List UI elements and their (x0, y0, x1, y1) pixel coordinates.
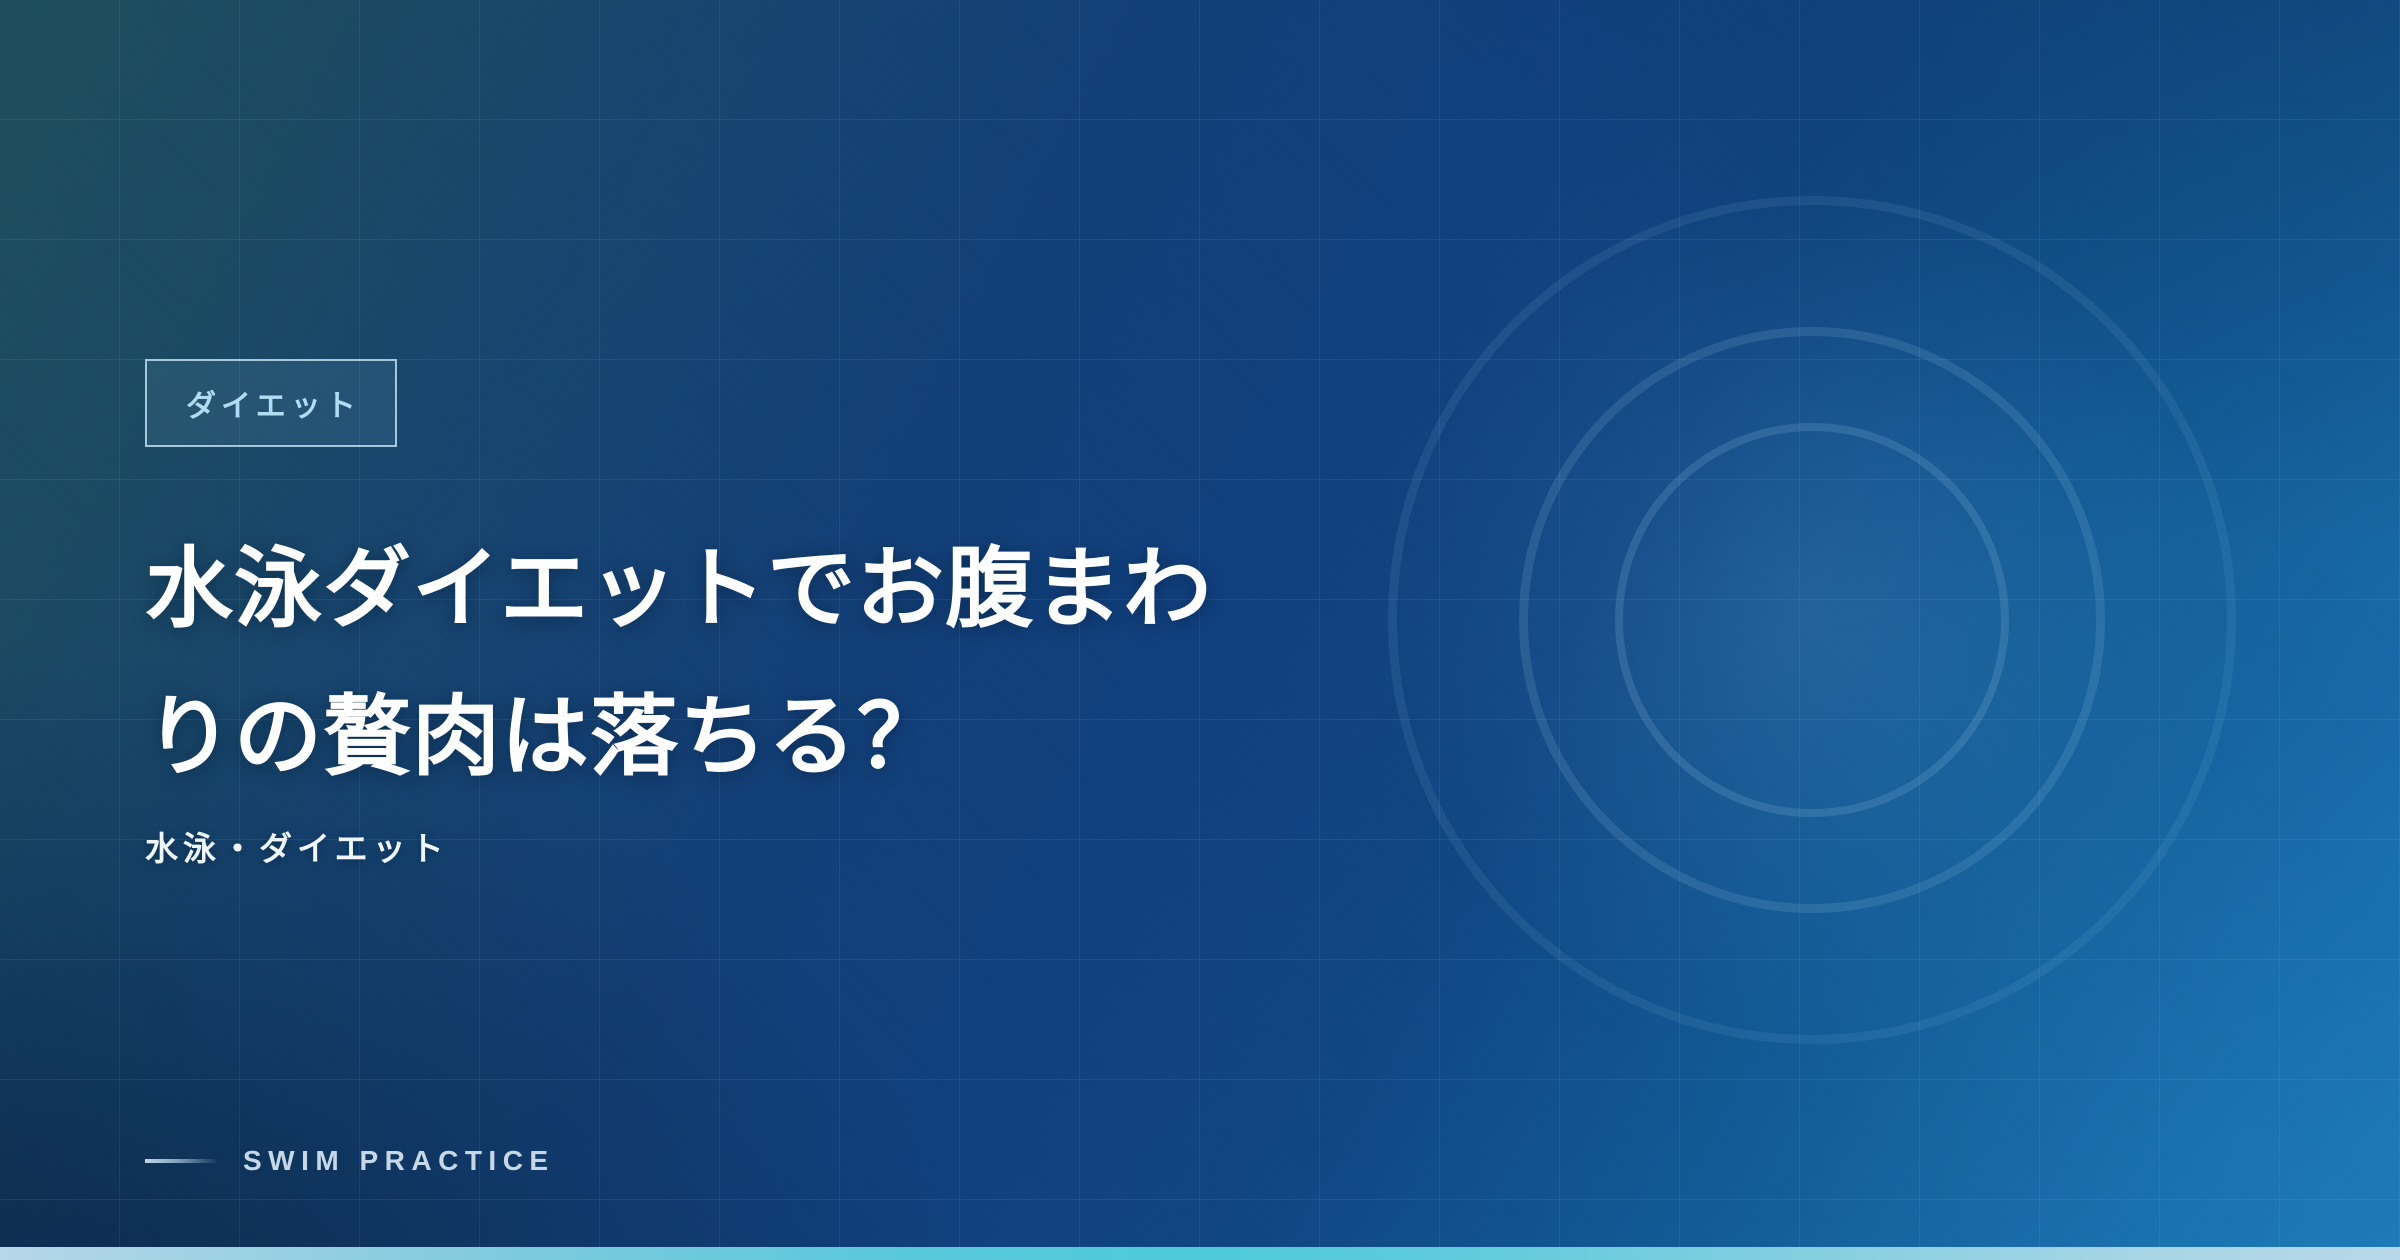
inner-ring-icon (1615, 423, 2009, 817)
bottom-accent-bar (0, 1247, 2400, 1260)
brand-kicker-label: SWIM PRACTICE (243, 1145, 555, 1177)
page-subtitle: 水泳・ダイエット (145, 822, 449, 870)
page-title: 水泳ダイエットでお腹まわ りの贅肉は落ちる？ (145, 517, 1465, 813)
page-title-line-2: りの贅肉は落ちる？ (145, 665, 1465, 813)
category-badge[interactable]: ダイエット (145, 359, 397, 447)
hero-banner: ダイエット 水泳ダイエットでお腹まわ りの贅肉は落ちる？ 水泳・ダイエット SW… (0, 0, 2400, 1260)
footer-kicker-group: SWIM PRACTICE (145, 1145, 555, 1177)
page-title-line-1: 水泳ダイエットでお腹まわ (145, 517, 1465, 665)
category-badge-label: ダイエット (181, 381, 361, 425)
horizontal-rule-divider (145, 1159, 216, 1163)
hero-content: ダイエット 水泳ダイエットでお腹まわ りの贅肉は落ちる？ 水泳・ダイエット SW… (145, 0, 1595, 1260)
middle-ring-icon (1519, 327, 2105, 913)
